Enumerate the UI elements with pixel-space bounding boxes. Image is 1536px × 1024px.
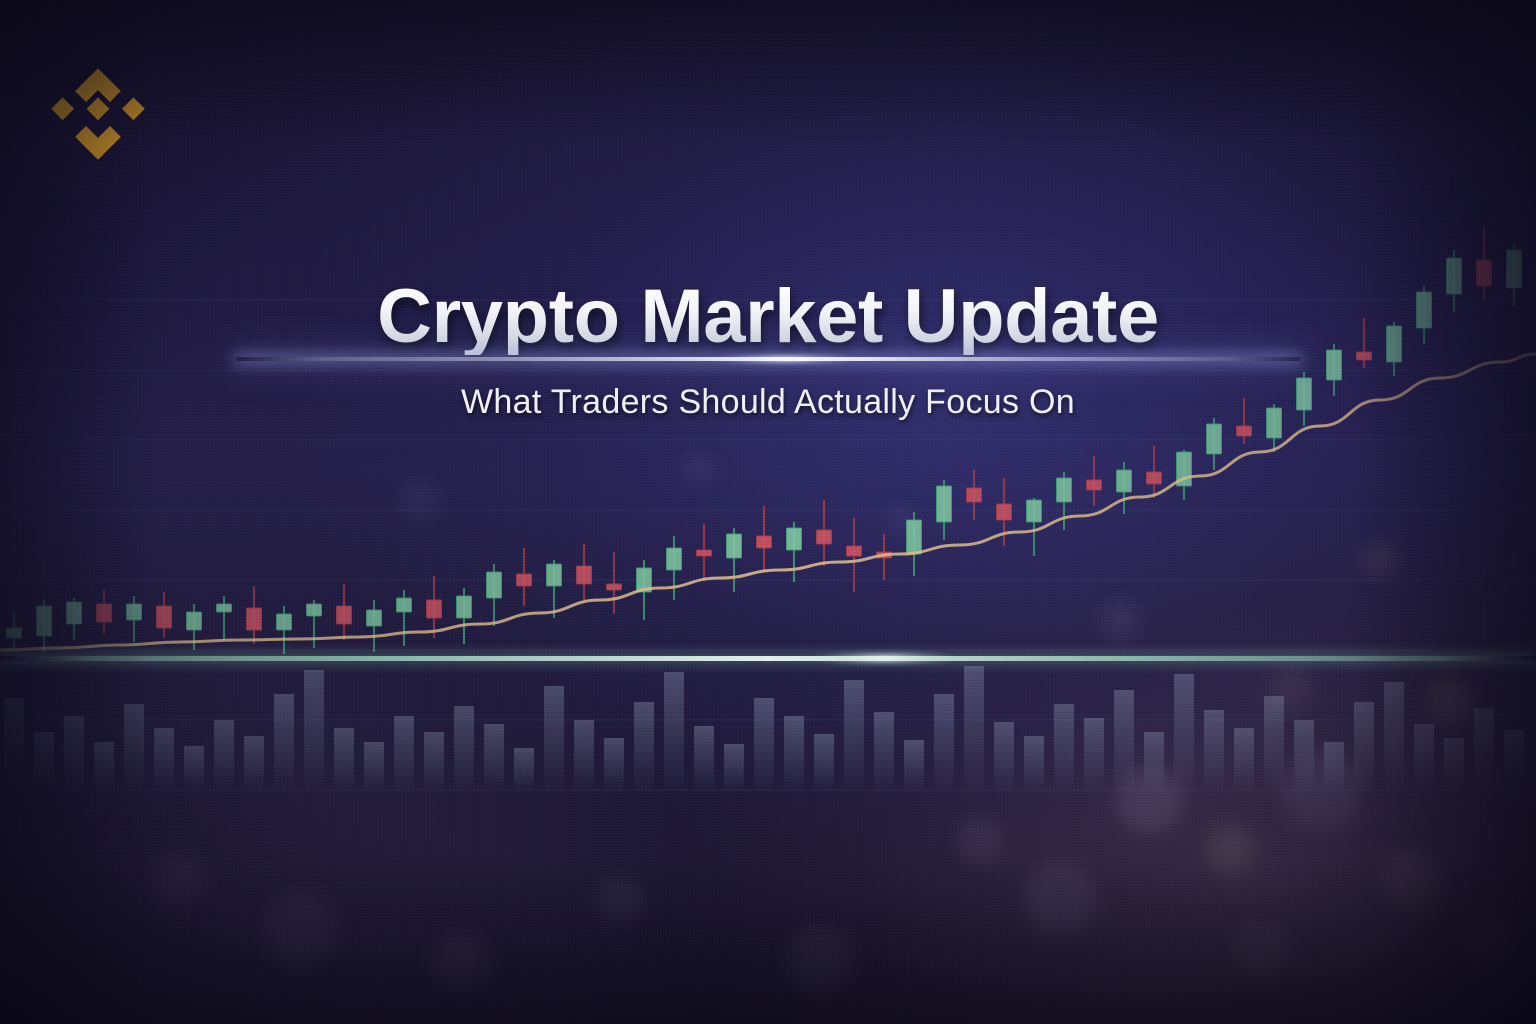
market-chart [0,0,1536,1024]
volume-bars [4,666,1524,790]
binance-logo-svg [46,62,150,166]
divider-highlight [690,352,880,366]
binance-logo-icon[interactable] [46,62,150,166]
page-title: Crypto Market Update [0,279,1536,355]
candlestick-chart-svg [0,0,1536,1024]
banner-canvas: Crypto Market Update What Traders Should… [0,0,1536,1024]
accent-beam-highlight [790,648,980,668]
accent-beam [0,656,1536,661]
page-subtitle: What Traders Should Actually Focus On [0,383,1536,422]
